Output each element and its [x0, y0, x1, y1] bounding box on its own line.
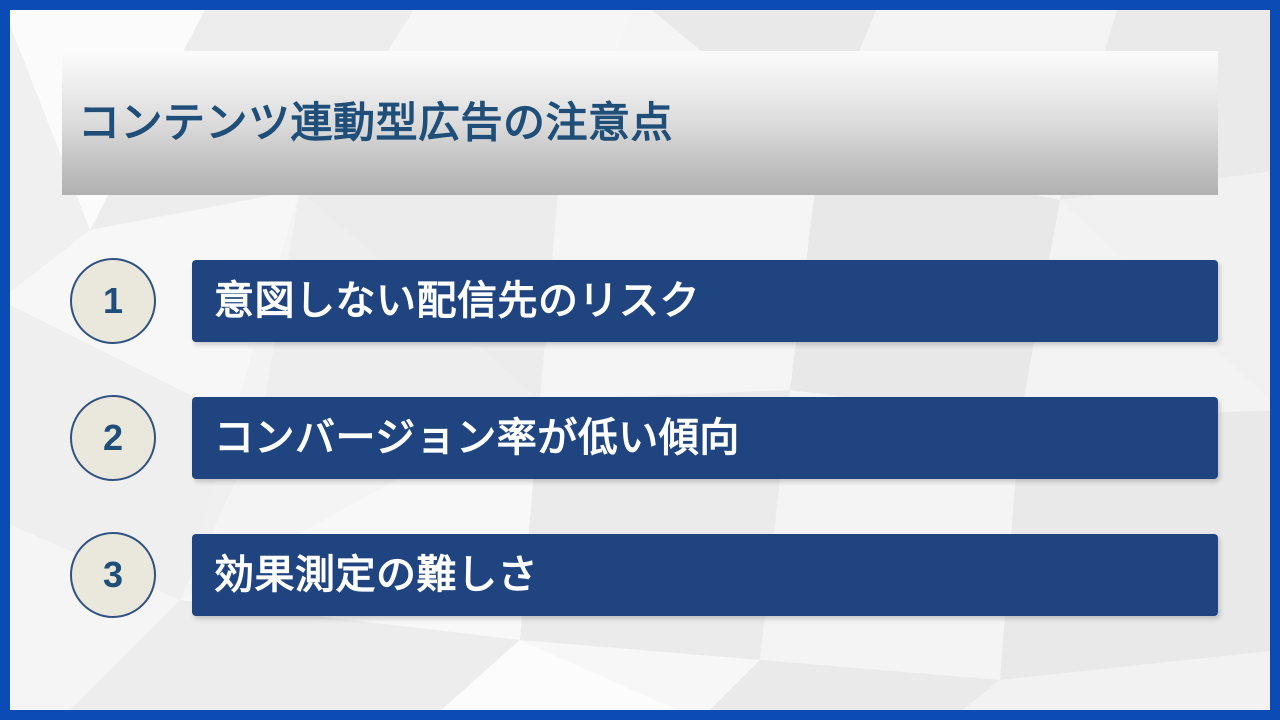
list-item[interactable]: 3 効果測定の難しさ [70, 529, 1218, 621]
item-label: コンバージョン率が低い傾向 [214, 416, 740, 460]
item-number-badge: 1 [70, 258, 156, 344]
slide: コンテンツ連動型広告の注意点 1 意図しない配信先のリスク 2 コンバージョン率… [0, 0, 1280, 720]
item-number-badge: 2 [70, 395, 156, 481]
numbered-list: 1 意図しない配信先のリスク 2 コンバージョン率が低い傾向 3 効果測定の難し… [0, 0, 1280, 720]
item-bar[interactable]: 効果測定の難しさ [192, 534, 1218, 616]
item-number-badge: 3 [70, 532, 156, 618]
list-item[interactable]: 1 意図しない配信先のリスク [70, 255, 1218, 347]
item-bar[interactable]: 意図しない配信先のリスク [192, 260, 1218, 342]
list-item[interactable]: 2 コンバージョン率が低い傾向 [70, 392, 1218, 484]
item-label: 意図しない配信先のリスク [214, 279, 700, 323]
item-label: 効果測定の難しさ [214, 553, 538, 597]
item-bar[interactable]: コンバージョン率が低い傾向 [192, 397, 1218, 479]
